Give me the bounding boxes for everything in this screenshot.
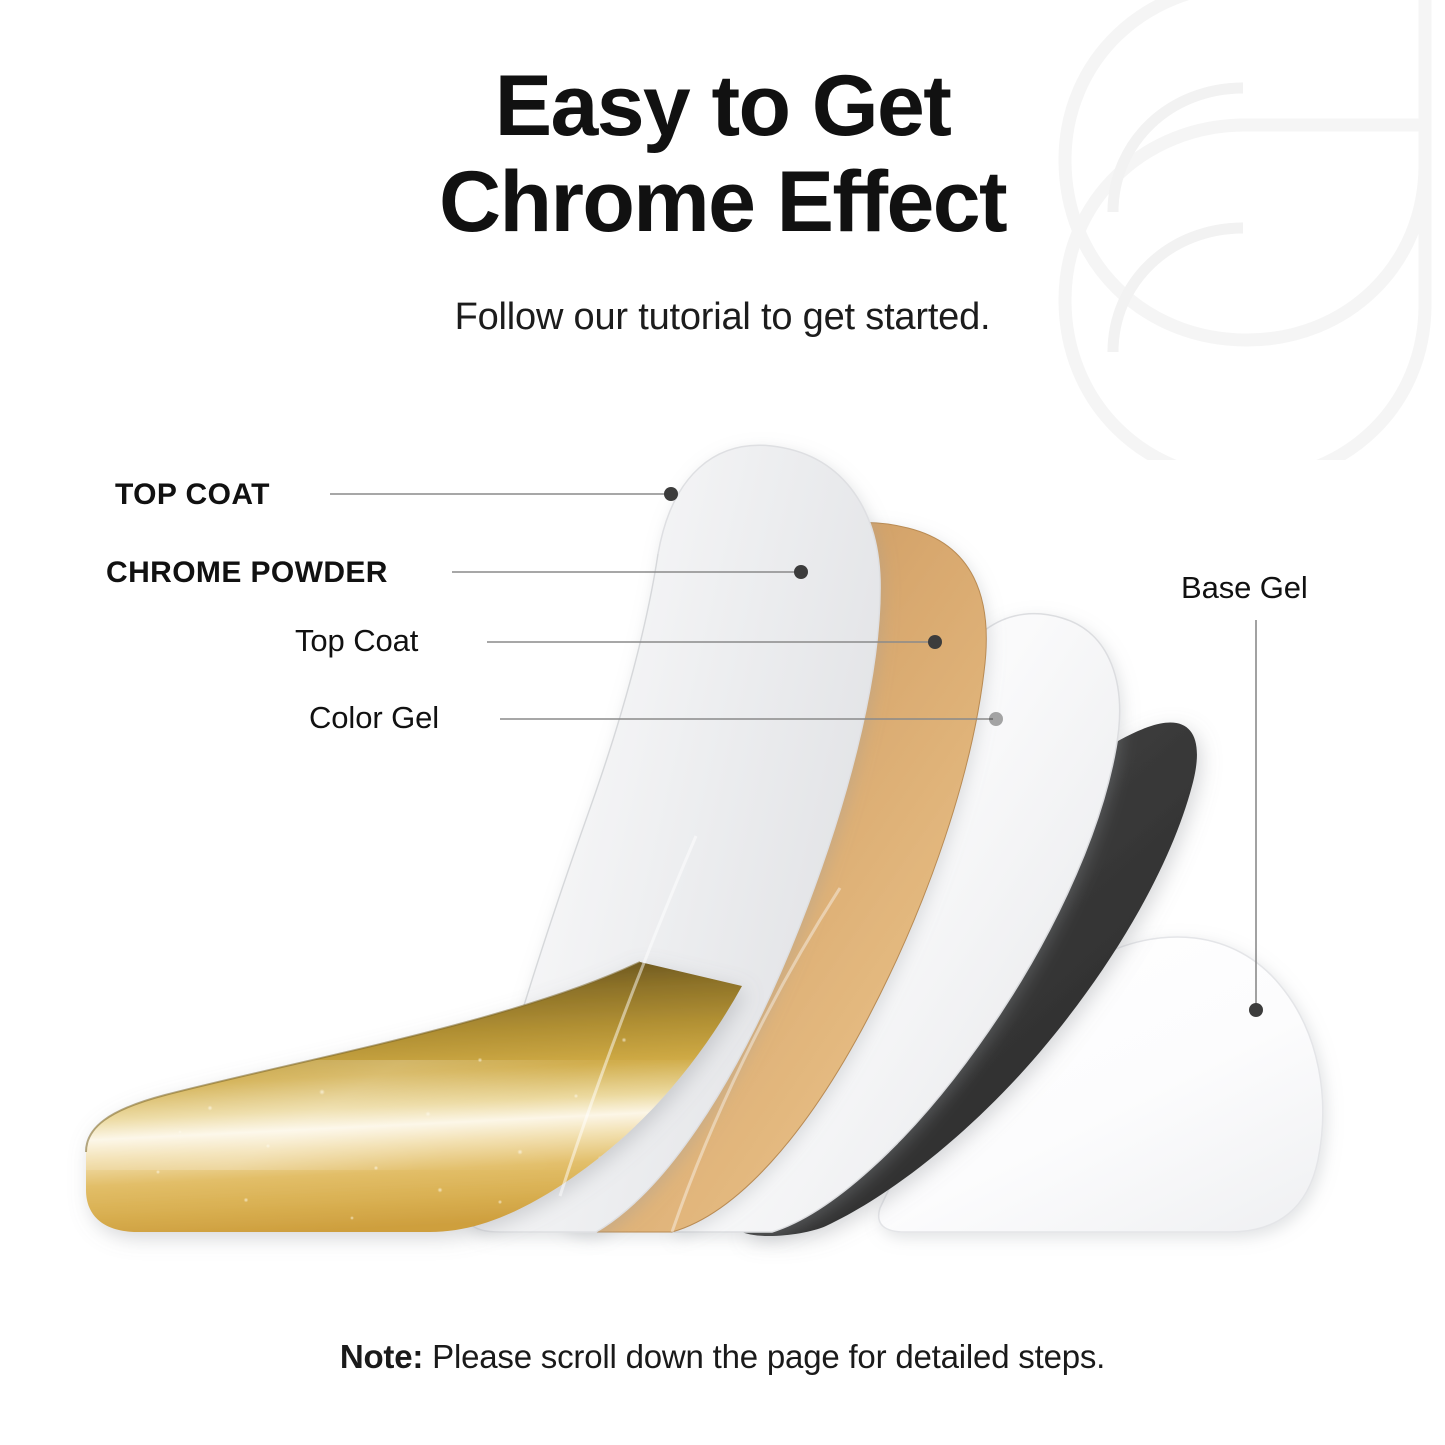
- callout-label-chrome-powder: CHROME POWDER: [106, 556, 388, 590]
- poster-canvas: Easy to Get Chrome Effect Follow our tut…: [0, 0, 1445, 1445]
- callout-label-top-coat-lower: Top Coat: [295, 623, 418, 659]
- footer-note-text: Please scroll down the page for detailed…: [423, 1338, 1105, 1375]
- footer-note-prefix: Note:: [340, 1338, 423, 1375]
- callout-label-base-gel: Base Gel: [1181, 570, 1308, 606]
- chrome-layers-illustration: [0, 0, 1445, 1445]
- callout-label-top-coat-upper: TOP COAT: [115, 478, 270, 512]
- callout-label-color-gel: Color Gel: [309, 700, 439, 736]
- footer-note: Note: Please scroll down the page for de…: [0, 1338, 1445, 1376]
